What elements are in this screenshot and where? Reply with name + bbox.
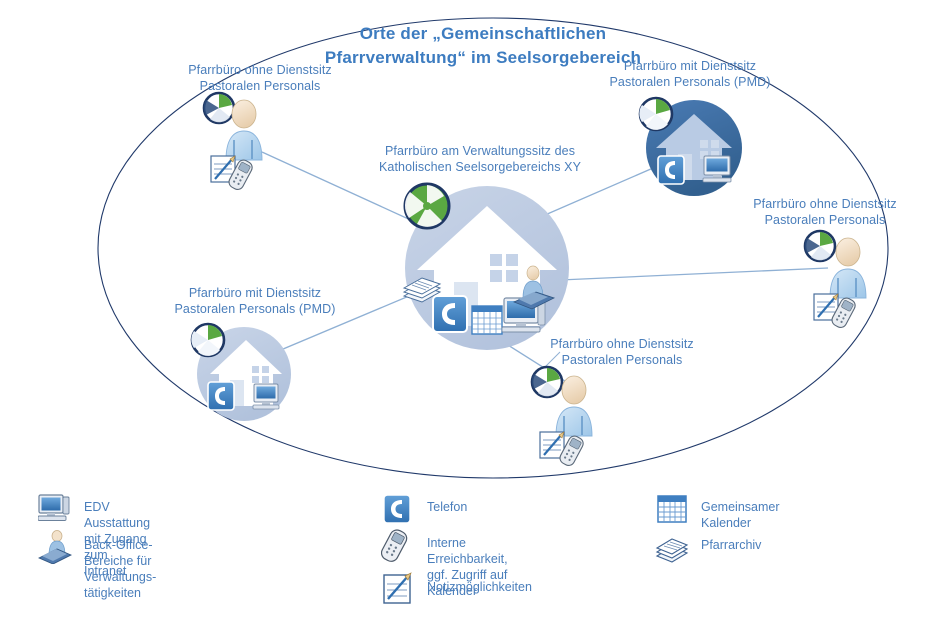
node-office-pmd-bottomleft[interactable] [182, 322, 302, 426]
note-icon [381, 572, 415, 606]
legend-label: Back-Office-Bereiche für Verwaltungs- tä… [84, 530, 156, 601]
church-logo-icon [639, 98, 672, 130]
church-logo-icon [532, 367, 562, 397]
legend-label: Gemeinsamer Kalender [701, 492, 780, 531]
node-office-no-seat-bottom[interactable] [526, 362, 636, 466]
node-label-office-pmd-topright: Pfarrbüro mit Dienstsitz Pastoralen Pers… [560, 58, 820, 90]
calendar-icon [472, 306, 502, 334]
telephone-icon [658, 156, 684, 184]
label-line-1: Pfarrbüro am Verwaltungssitz des [350, 143, 610, 159]
label-line-1: Pfarrbüro mit Dienstsitz [560, 58, 820, 74]
legend-item-archive: Pfarrarchiv [655, 530, 761, 564]
telephone-icon [433, 296, 467, 332]
legend-item-telephone: Telefon [381, 492, 467, 526]
label-line-2: Pastoralen Personals (PMD) [560, 74, 820, 90]
node-office-no-seat-topleft[interactable] [195, 88, 305, 192]
computer-icon [703, 156, 731, 182]
node-label-office-administration-center: Pfarrbüro am Verwaltungssitz des Katholi… [350, 143, 610, 175]
church-logo-icon [191, 324, 224, 356]
label-line-1: Pfarrbüro ohne Dienstsitz [492, 336, 752, 352]
legend-label: Notizmöglichkeiten [427, 572, 532, 595]
label-line-1: Pfarrbüro ohne Dienstsitz [705, 196, 945, 212]
mobile-phone-icon [381, 528, 415, 562]
node-label-office-no-seat-right: Pfarrbüro ohne Dienstsitz Pastoralen Per… [705, 196, 945, 228]
label-line-1: Pfarrbüro mit Dienstsitz [125, 285, 385, 301]
legend-label: Telefon [427, 492, 467, 515]
computer-icon [253, 384, 279, 409]
legend-item-back-office: Back-Office-Bereiche für Verwaltungs- tä… [38, 530, 156, 601]
legend-item-calendar: Gemeinsamer Kalender [655, 492, 780, 531]
title-line-1: Orte der „Gemeinschaftlichen [293, 22, 673, 46]
archive-icon [655, 530, 689, 564]
node-office-pmd-topright[interactable] [628, 94, 752, 202]
church-logo-icon [204, 93, 234, 123]
telephone-icon [381, 492, 415, 526]
label-line-1: Pfarrbüro ohne Dienstsitz [130, 62, 390, 78]
label-line-2: Katholischen Seelsorgebereichs XY [350, 159, 610, 175]
label-line-2: Pastoralen Personals (PMD) [125, 301, 385, 317]
node-office-administration-center[interactable] [390, 178, 580, 360]
calendar-icon [655, 492, 689, 526]
note-icon [540, 432, 564, 458]
legend-label: Pfarrarchiv [701, 530, 761, 553]
church-logo-icon [805, 231, 835, 261]
telephone-icon [208, 382, 234, 410]
node-office-no-seat-right[interactable] [798, 226, 908, 330]
legend-item-note: Notizmöglichkeiten [381, 572, 532, 606]
node-label-office-pmd-bottomleft: Pfarrbüro mit Dienstsitz Pastoralen Pers… [125, 285, 385, 317]
church-logo-icon [405, 184, 449, 228]
computer-icon [38, 492, 72, 526]
back-office-icon [38, 530, 72, 564]
diagram-canvas: Orte der „Gemeinschaftlichen Pfarrverwal… [0, 0, 946, 625]
